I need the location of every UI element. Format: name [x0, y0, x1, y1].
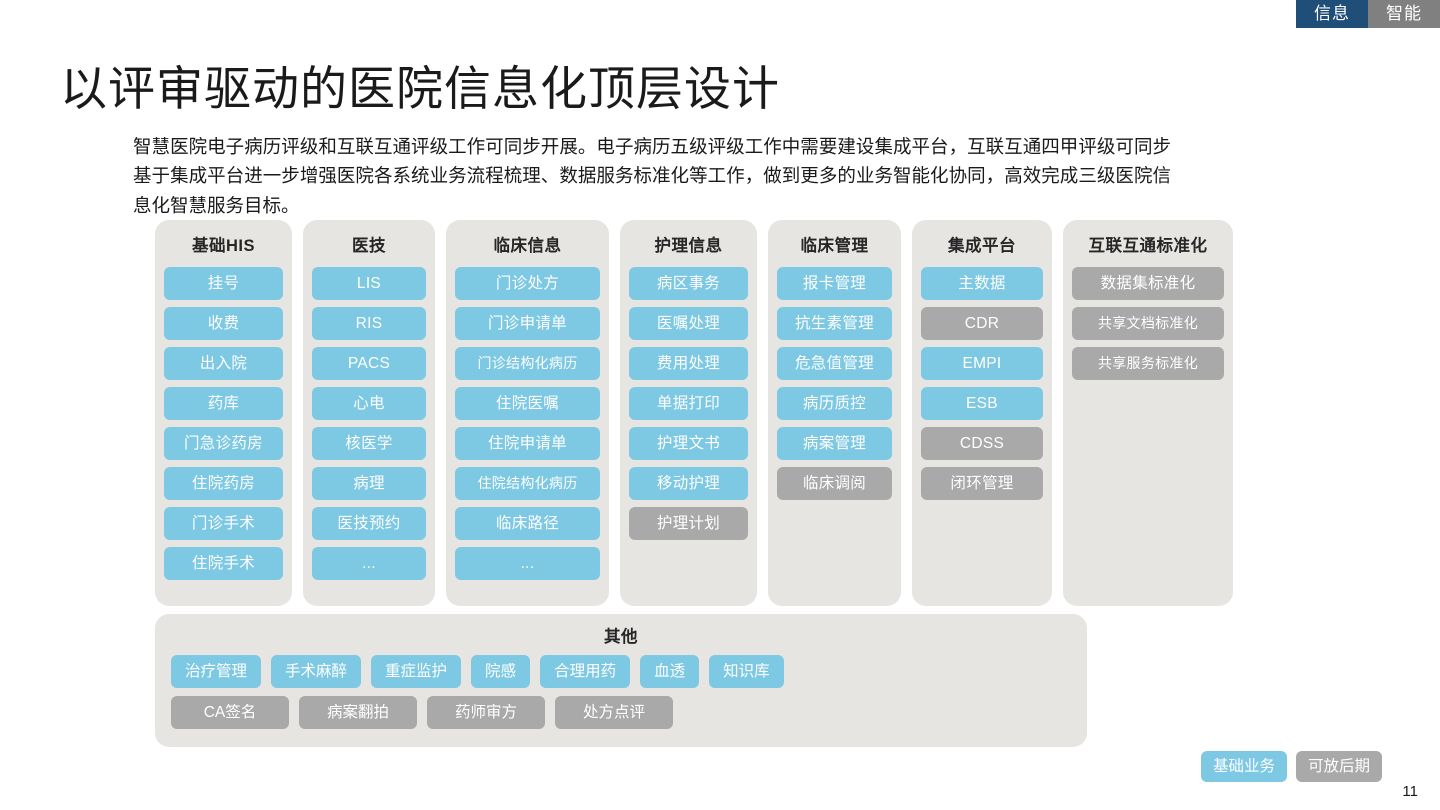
module-chip[interactable]: EMPI — [921, 347, 1043, 380]
module-chip[interactable]: ESB — [921, 387, 1043, 420]
header-tab-information[interactable]: 信息 — [1296, 0, 1368, 28]
category-column-title: 互联互通标准化 — [1089, 232, 1208, 256]
module-chip[interactable]: 门急诊药房 — [164, 427, 283, 460]
module-chip[interactable]: 住院药房 — [164, 467, 283, 500]
module-chip[interactable]: ... — [455, 547, 600, 580]
category-column-title: 基础HIS — [192, 232, 255, 256]
other-module-chip[interactable]: 院感 — [471, 655, 530, 688]
module-chip[interactable]: 共享服务标准化 — [1072, 347, 1224, 380]
module-chip[interactable]: 住院手术 — [164, 547, 283, 580]
module-chip[interactable]: 门诊结构化病历 — [455, 347, 600, 380]
module-chip[interactable]: PACS — [312, 347, 426, 380]
module-chip-list: 病区事务医嘱处理费用处理单据打印护理文书移动护理护理计划 — [629, 267, 748, 540]
module-chip[interactable]: 共享文档标准化 — [1072, 307, 1224, 340]
category-column: 护理信息病区事务医嘱处理费用处理单据打印护理文书移动护理护理计划 — [620, 220, 757, 606]
module-chip[interactable]: 抗生素管理 — [777, 307, 892, 340]
category-column: 互联互通标准化数据集标准化共享文档标准化共享服务标准化 — [1063, 220, 1233, 606]
legend-chip: 可放后期 — [1296, 751, 1382, 782]
module-chip[interactable]: 住院申请单 — [455, 427, 600, 460]
module-chip[interactable]: 医技预约 — [312, 507, 426, 540]
other-chip-row: 治疗管理手术麻醉重症监护院感合理用药血透知识库 — [171, 655, 1071, 688]
module-chip-list: 门诊处方门诊申请单门诊结构化病历住院医嘱住院申请单住院结构化病历临床路径... — [455, 267, 600, 580]
module-chip[interactable]: 门诊手术 — [164, 507, 283, 540]
module-chip[interactable]: CDSS — [921, 427, 1043, 460]
module-chip[interactable]: 临床路径 — [455, 507, 600, 540]
other-module-chip[interactable]: 重症监护 — [371, 655, 461, 688]
module-chip[interactable]: 数据集标准化 — [1072, 267, 1224, 300]
module-chip[interactable]: 危急值管理 — [777, 347, 892, 380]
other-module-chip[interactable]: 治疗管理 — [171, 655, 261, 688]
other-module-chip[interactable]: 药师审方 — [427, 696, 545, 729]
module-chip[interactable]: 门诊处方 — [455, 267, 600, 300]
module-chip[interactable]: 病历质控 — [777, 387, 892, 420]
header-tab-intelligence[interactable]: 智能 — [1368, 0, 1440, 28]
category-column: 基础HIS挂号收费出入院药库门急诊药房住院药房门诊手术住院手术 — [155, 220, 292, 606]
module-chip-list: 报卡管理抗生素管理危急值管理病历质控病案管理临床调阅 — [777, 267, 892, 500]
category-column-title: 临床管理 — [801, 232, 869, 256]
module-chip[interactable]: 移动护理 — [629, 467, 748, 500]
header-tab-group: 信息 智能 — [1296, 0, 1440, 28]
module-chip[interactable]: 住院结构化病历 — [455, 467, 600, 500]
module-chip[interactable]: 核医学 — [312, 427, 426, 460]
module-chip[interactable]: 护理计划 — [629, 507, 748, 540]
module-chip[interactable]: ... — [312, 547, 426, 580]
category-column-title: 医技 — [352, 232, 386, 256]
other-module-chip[interactable]: 手术麻醉 — [271, 655, 361, 688]
category-column-group: 基础HIS挂号收费出入院药库门急诊药房住院药房门诊手术住院手术医技LISRISP… — [155, 220, 1287, 606]
other-panel-title: 其他 — [171, 623, 1071, 647]
module-chip[interactable]: LIS — [312, 267, 426, 300]
module-chip[interactable]: RIS — [312, 307, 426, 340]
module-chip[interactable]: 挂号 — [164, 267, 283, 300]
page-number: 11 — [1402, 783, 1418, 800]
body-paragraph: 智慧医院电子病历评级和互联互通评级工作可同步开展。电子病历五级评级工作中需要建设… — [133, 132, 1171, 222]
module-chip[interactable]: 住院医嘱 — [455, 387, 600, 420]
module-chip[interactable]: 医嘱处理 — [629, 307, 748, 340]
module-chip[interactable]: 临床调阅 — [777, 467, 892, 500]
module-chip-list: 主数据CDREMPIESBCDSS闭环管理 — [921, 267, 1043, 500]
module-chip[interactable]: 主数据 — [921, 267, 1043, 300]
module-chip[interactable]: 病案管理 — [777, 427, 892, 460]
module-chip[interactable]: 心电 — [312, 387, 426, 420]
module-chip[interactable]: 收费 — [164, 307, 283, 340]
module-chip-list: LISRISPACS心电核医学病理医技预约... — [312, 267, 426, 580]
page-title: 以评审驱动的医院信息化顶层设计 — [60, 61, 780, 117]
other-module-chip[interactable]: CA签名 — [171, 696, 289, 729]
other-module-chip[interactable]: 知识库 — [709, 655, 784, 688]
other-module-chip[interactable]: 血透 — [640, 655, 699, 688]
category-column: 临床信息门诊处方门诊申请单门诊结构化病历住院医嘱住院申请单住院结构化病历临床路径… — [446, 220, 609, 606]
other-module-chip[interactable]: 合理用药 — [540, 655, 630, 688]
legend: 基础业务可放后期 — [1201, 751, 1382, 782]
module-chip[interactable]: 费用处理 — [629, 347, 748, 380]
category-column-title: 护理信息 — [655, 232, 723, 256]
module-chip[interactable]: 药库 — [164, 387, 283, 420]
other-module-chip[interactable]: 处方点评 — [555, 696, 673, 729]
module-chip[interactable]: 单据打印 — [629, 387, 748, 420]
module-chip[interactable]: 病区事务 — [629, 267, 748, 300]
module-chip-list: 数据集标准化共享文档标准化共享服务标准化 — [1072, 267, 1224, 380]
module-chip[interactable]: CDR — [921, 307, 1043, 340]
category-column-title: 集成平台 — [948, 232, 1016, 256]
category-column: 医技LISRISPACS心电核医学病理医技预约... — [303, 220, 435, 606]
module-chip[interactable]: 报卡管理 — [777, 267, 892, 300]
other-panel-rows: 治疗管理手术麻醉重症监护院感合理用药血透知识库CA签名病案翻拍药师审方处方点评 — [171, 655, 1071, 729]
module-chip[interactable]: 门诊申请单 — [455, 307, 600, 340]
category-column-title: 临床信息 — [494, 232, 562, 256]
other-module-chip[interactable]: 病案翻拍 — [299, 696, 417, 729]
legend-chip: 基础业务 — [1201, 751, 1287, 782]
category-column: 临床管理报卡管理抗生素管理危急值管理病历质控病案管理临床调阅 — [768, 220, 901, 606]
module-chip[interactable]: 病理 — [312, 467, 426, 500]
category-column: 集成平台主数据CDREMPIESBCDSS闭环管理 — [912, 220, 1052, 606]
module-chip-list: 挂号收费出入院药库门急诊药房住院药房门诊手术住院手术 — [164, 267, 283, 580]
other-panel: 其他 治疗管理手术麻醉重症监护院感合理用药血透知识库CA签名病案翻拍药师审方处方… — [155, 614, 1087, 747]
module-chip[interactable]: 护理文书 — [629, 427, 748, 460]
module-chip[interactable]: 出入院 — [164, 347, 283, 380]
other-chip-row: CA签名病案翻拍药师审方处方点评 — [171, 696, 1071, 729]
module-chip[interactable]: 闭环管理 — [921, 467, 1043, 500]
